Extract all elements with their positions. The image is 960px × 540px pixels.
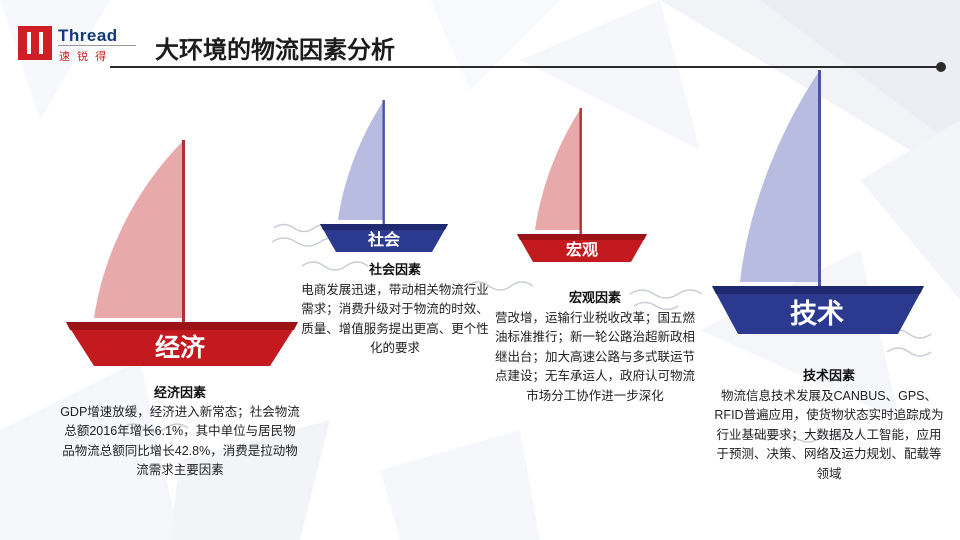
sail-shape (535, 108, 581, 230)
mast-shape (818, 70, 821, 286)
logo-subtext: 速 锐 得 (59, 48, 108, 64)
page-title: 大环境的物流因素分析 (155, 30, 395, 65)
boat-label-technology: 技术 (706, 292, 928, 331)
body-society: 电商发展迅速，带动相关物流行业需求；消费升级对于物流的时效、质量、增值服务提出更… (297, 281, 493, 359)
boat-label-society: 社会 (316, 226, 452, 250)
company-logo: Thread 速 锐 得 (18, 24, 136, 68)
sail-shape (740, 70, 820, 282)
mast-shape (182, 140, 185, 322)
sail-shape (338, 100, 384, 220)
page-header: Thread 速 锐 得 大环境的物流因素分析 (0, 0, 960, 78)
boat-macro: 宏观 (513, 108, 651, 264)
boat-technology: 技术 (706, 70, 928, 338)
body-economy: GDP增速放缓，经济进入新常态；社会物流总额2016年增长6.1%，其中单位与居… (60, 403, 300, 481)
title-end-dot-icon (936, 62, 946, 72)
sail-shape (94, 140, 184, 318)
body-macro: 营改增，运输行业税收改革；国五燃油标准推行；新一轮公路治超新政相继出台；加大高速… (495, 309, 695, 406)
logo-divider (58, 45, 136, 46)
caption-society: 社会因素 (297, 259, 493, 278)
boat-society: 社会 (316, 100, 452, 254)
logo-text: Thread (58, 26, 118, 46)
caption-economy: 经济因素 (60, 382, 300, 401)
caption-macro: 宏观因素 (495, 287, 695, 306)
mast-shape (580, 108, 582, 234)
mast-shape (383, 100, 385, 224)
title-underline (110, 66, 938, 68)
logo-mark-icon (18, 26, 52, 60)
boat-label-macro: 宏观 (513, 236, 651, 260)
body-technology: 物流信息技术发展及CANBUS、GPS、RFID普遍应用，使货物状态实时追踪成为… (712, 387, 946, 484)
boat-label-economy: 经济 (58, 328, 302, 364)
boat-economy: 经济 (58, 140, 302, 370)
caption-technology: 技术因素 (712, 365, 946, 384)
